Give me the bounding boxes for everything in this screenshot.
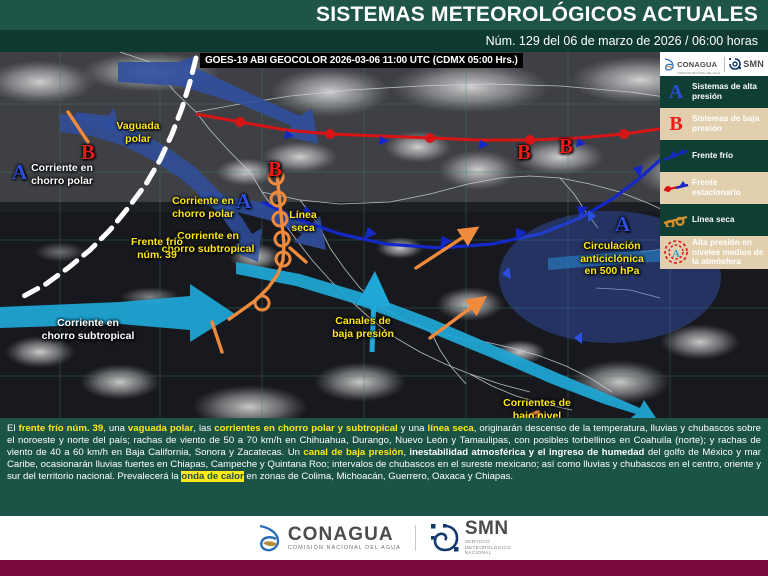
map-symbol-low-pressure-north-2: B [517, 140, 531, 165]
conagua-logo: CONAGUA COMISIÓN NACIONAL DEL AGUA [257, 523, 401, 553]
legend-label-mid-level-high: Alta presión en niveles medios de la atm… [692, 238, 768, 267]
bulletin-number-date: Núm. 129 del 06 de marzo de 2026 / 06:00… [486, 31, 758, 51]
map-label-corriente-chorro-subtropical-2: Corriente en chorro subtropical [42, 317, 135, 342]
conagua-emblem-icon [664, 58, 675, 71]
map-symbol-high-pressure-pacific: A [12, 160, 27, 185]
mid-level-high-icon: A [660, 239, 692, 265]
legend-item-dry-line[interactable]: Línea seca [660, 204, 768, 236]
map-label-corriente-chorro-polar-1: Corriente en chorro polar [31, 162, 93, 187]
legend-label-low-pressure: Sistemas de baja presión [692, 114, 768, 133]
conagua-footer-name: CONAGUA [288, 524, 394, 545]
letter-b-icon: B [660, 113, 692, 136]
smn-emblem-icon [729, 58, 741, 70]
legend-label-cold-front: Frente frío [692, 151, 736, 161]
bulletin-segment: onda de calor [181, 471, 243, 482]
bulletin-segment: vaguada polar [128, 423, 193, 434]
legend-label-dry-line: Línea seca [692, 215, 737, 225]
map-label-corrientes-bajo-nivel: Corrientes de bajo nivel [503, 397, 571, 418]
smn-footer-name: SMN [465, 518, 509, 539]
legend-item-mid-level-high[interactable]: A Alta presión en niveles medios de la a… [660, 236, 768, 269]
conagua-water-icon [257, 523, 283, 553]
bulletin-segment: inestabilidad atmosférica y el ingreso d… [409, 447, 644, 458]
legend-logo-divider [724, 57, 725, 72]
bulletin-segment: corrientes en chorro polar y subtropical [214, 423, 397, 434]
map-label-linea-seca: Línea seca [289, 209, 316, 234]
conagua-legend-sub: COMISIÓN NACIONAL DEL AGUA [677, 72, 720, 75]
letter-a-icon: A [660, 81, 692, 104]
footer-divider [415, 525, 416, 551]
map-graphics [0, 52, 768, 418]
map-label-corriente-chorro-polar-2: Corriente en chorro polar [172, 195, 234, 220]
legend-item-stationary-front[interactable]: Frente estacionario [660, 172, 768, 204]
map-label-circulacion-anticiclonica: Circulación anticiclónica en 500 hPa [580, 240, 644, 278]
legend-label-stationary-front: Frente estacionario [692, 178, 768, 197]
map-symbol-high-pressure-caribbean: A [615, 212, 630, 237]
bulletin-segment: en zonas de Colima, Michoacán, Guerrero,… [244, 471, 513, 482]
bulletin-text: El frente frío núm. 39, una vaguada pola… [0, 418, 768, 516]
bottom-accent-strip [0, 560, 768, 576]
smn-legend-name: SMN [743, 59, 764, 69]
map-symbol-low-pressure-north-3: B [559, 134, 573, 159]
satellite-timestamp-banner: GOES-19 ABI GEOCOLOR 2026-03-06 11:00 UT… [200, 53, 523, 68]
footer-logos: CONAGUA COMISIÓN NACIONAL DEL AGUA SMN S… [0, 516, 768, 560]
map-symbol-low-pressure-northwest: B [81, 140, 95, 165]
map-symbol-high-pressure-atlantic: A [236, 189, 251, 214]
legend-item-low-pressure[interactable]: B Sistemas de baja presión [660, 108, 768, 140]
map-symbol-low-pressure-north-1: B [268, 157, 282, 182]
smn-spiral-icon [430, 523, 460, 553]
weather-bulletin-page: SISTEMAS METEOROLÓGICOS ACTUALES Núm. 12… [0, 0, 768, 576]
conagua-legend-name: CONAGUA [677, 60, 717, 69]
legend-item-cold-front[interactable]: Frente frío [660, 140, 768, 172]
bulletin-segment: El [7, 423, 19, 434]
smn-logo: SMN SERVICIOMETEOROLÓGICONACIONAL [430, 520, 511, 556]
satellite-map[interactable]: GOES-19 ABI GEOCOLOR 2026-03-06 11:00 UT… [0, 52, 768, 418]
bulletin-segment: , las [193, 423, 214, 434]
map-label-vaguada-polar: Vaguada polar [116, 120, 159, 145]
dry-line-icon [660, 213, 692, 227]
map-label-frente-frio-39: Frente frío núm. 39 [131, 236, 183, 261]
legend-logo-bar: CONAGUA COMISIÓN NACIONAL DEL AGUA SMN [660, 52, 768, 76]
map-legend: CONAGUA COMISIÓN NACIONAL DEL AGUA SMN A… [660, 52, 768, 269]
smn-logo-small: SMN [729, 58, 764, 70]
conagua-logo-small: CONAGUA COMISIÓN NACIONAL DEL AGUA [664, 54, 720, 75]
bulletin-segment: , una [103, 423, 128, 434]
map-label-canales-baja-presion: Canales de baja presión [332, 315, 394, 340]
stationary-front-icon [660, 181, 692, 195]
bulletin-segment: línea seca [428, 423, 474, 434]
page-title: SISTEMAS METEOROLÓGICOS ACTUALES [316, 2, 758, 28]
bulletin-segment: canal de baja presión [303, 447, 403, 458]
conagua-footer-sub: COMISIÓN NACIONAL DEL AGUA [288, 545, 401, 552]
smn-footer-sub: SERVICIOMETEOROLÓGICONACIONAL [465, 539, 511, 556]
bulletin-segment: frente frío núm. 39 [19, 423, 104, 434]
legend-item-high-pressure[interactable]: A Sistemas de alta presión [660, 76, 768, 108]
bulletin-segment: y una [398, 423, 428, 434]
svg-text:A: A [672, 248, 680, 260]
legend-label-high-pressure: Sistemas de alta presión [692, 82, 768, 101]
cold-front-icon [660, 149, 692, 163]
